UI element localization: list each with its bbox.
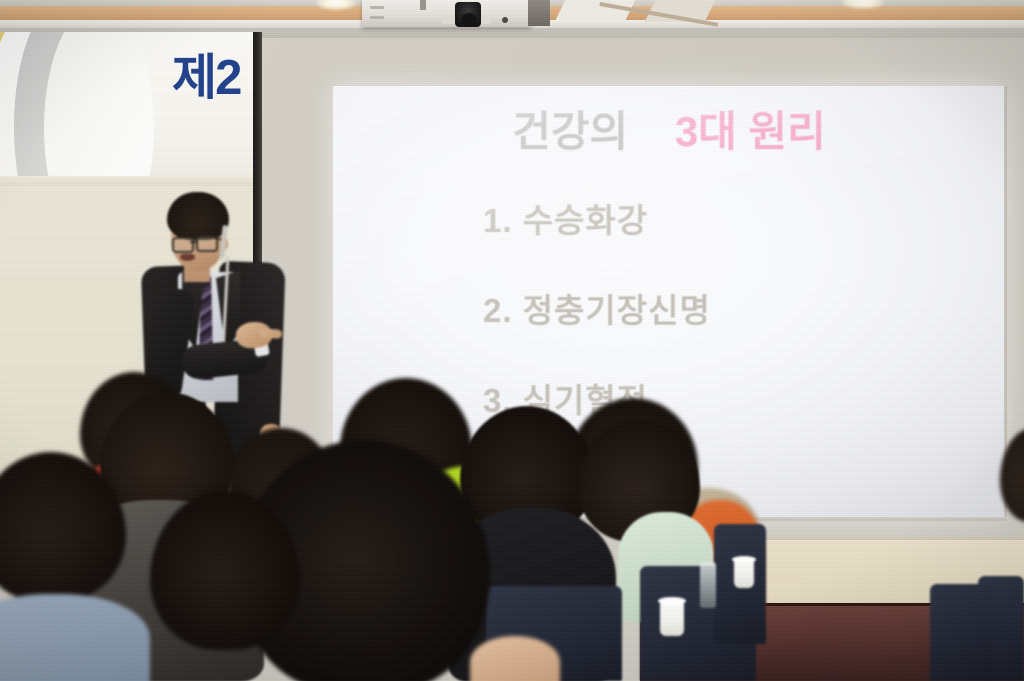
attendee-head bbox=[0, 452, 126, 602]
attendee-shoulder-skin bbox=[470, 636, 560, 681]
audience-front-row bbox=[0, 0, 1024, 681]
lecture-hall-scene: 제2 일시 : 201 건강의 3대 원리 1. 수승화강 2. 정충기장신명 … bbox=[0, 0, 1024, 681]
attendee-body-blue bbox=[0, 594, 150, 681]
